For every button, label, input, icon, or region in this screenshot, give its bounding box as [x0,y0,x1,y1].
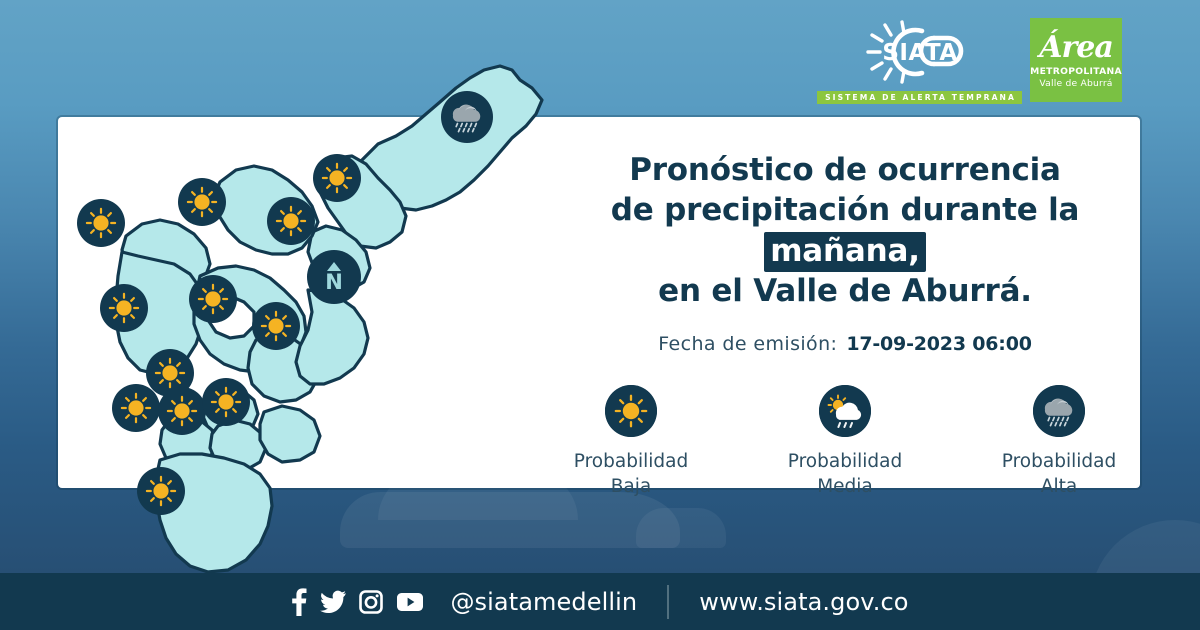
emission-date-label: Fecha de emisión: [658,333,837,355]
legend-item-medium: ProbabilidadMedia [781,385,909,499]
legend-badge-medium [819,385,871,437]
title-line-1: Pronóstico de ocurrencia [629,152,1061,188]
forecast-content: Pronóstico de ocurrencia de precipitació… [545,150,1145,499]
legend-label-line1: Probabilidad [1002,451,1116,472]
map-marker-low-m04 [313,154,361,202]
legend-badge-low [605,385,657,437]
facebook-icon[interactable] [291,588,307,616]
rain-cloud-icon [441,91,493,143]
infographic-root: N Pronóstico de ocurrencia de precipitac… [0,0,1200,630]
youtube-icon[interactable] [396,592,424,612]
sun-rain-icon [819,385,871,437]
map-marker-low-m01 [77,199,125,247]
emission-date: Fecha de emisión: 17-09-2023 06:00 [545,333,1145,355]
legend-label-line2: Alta [1041,476,1077,497]
twitter-icon[interactable] [320,590,346,614]
legend-label-line2: Baja [611,476,652,497]
map-marker-high-m05 [441,91,493,143]
map-marker-low-m11 [158,387,206,435]
map-marker-low-m07 [189,275,237,323]
sun-icon [77,199,125,247]
page-title: Pronóstico de ocurrencia de precipitació… [545,150,1145,311]
sun-icon [267,197,315,245]
decorative-cloud-right [636,508,726,548]
sun-icon [137,467,185,515]
sun-icon [112,384,160,432]
siata-logo: SIATA SISTEMA DE ALERTA TEMPRANA [817,18,1022,104]
area-logo-line2: Valle de Aburrá [1039,78,1112,89]
instagram-icon[interactable] [359,590,383,614]
sun-icon [313,154,361,202]
map-marker-low-m03 [267,197,315,245]
sun-icon [605,385,657,437]
social-handle[interactable]: @siatamedellin [450,588,637,616]
map-marker-low-m06 [100,284,148,332]
legend-item-high: ProbabilidadAlta [995,385,1123,499]
siata-tagline: SISTEMA DE ALERTA TEMPRANA [817,91,1022,104]
footer-divider [667,585,669,619]
probability-legend: ProbabilidadBaja ProbabilidadMedia [545,385,1145,499]
title-highlight-period: mañana, [764,232,926,272]
legend-label-medium: ProbabilidadMedia [788,450,902,499]
sun-icon [100,284,148,332]
municipality-east [296,290,368,384]
area-logo-script: Área [1039,33,1113,63]
legend-badge-high [1033,385,1085,437]
sun-icon [252,302,300,350]
area-metropolitana-logo: Área METROPOLITANA Valle de Aburrá [1030,18,1122,102]
sun-icon [189,275,237,323]
legend-label-line1: Probabilidad [788,451,902,472]
rain-cloud-icon [1033,385,1085,437]
legend-item-low: ProbabilidadBaja [567,385,695,499]
map-marker-low-m10 [112,384,160,432]
compass-north-badge: N [307,250,361,304]
siata-sun-cloud-icon: SIATA [860,18,980,86]
sun-icon [178,178,226,226]
map-marker-low-m13 [137,467,185,515]
legend-label-high: ProbabilidadAlta [1002,450,1116,499]
sun-icon [202,378,250,426]
compass-label: N [325,272,343,293]
legend-label-line2: Media [817,476,873,497]
map-marker-low-m12 [202,378,250,426]
website-link[interactable]: www.siata.gov.co [699,588,908,616]
municipality-rionegro-w [260,406,320,462]
sun-icon [158,387,206,435]
legend-label-low: ProbabilidadBaja [574,450,688,499]
emission-date-value: 17-09-2023 06:00 [846,333,1031,355]
title-line-3: en el Valle de Aburrá. [658,273,1032,309]
legend-label-line1: Probabilidad [574,451,688,472]
title-line-2-prefix: de precipitación durante la [611,192,1080,228]
footer-bar: @siatamedellin www.siata.gov.co [0,573,1200,630]
social-icons [291,588,424,616]
map-marker-low-m08 [252,302,300,350]
svg-text:SIATA: SIATA [882,40,957,66]
logo-group: SIATA SISTEMA DE ALERTA TEMPRANA Área ME… [817,18,1122,104]
area-logo-line1: METROPOLITANA [1030,66,1122,77]
map-marker-low-m02 [178,178,226,226]
